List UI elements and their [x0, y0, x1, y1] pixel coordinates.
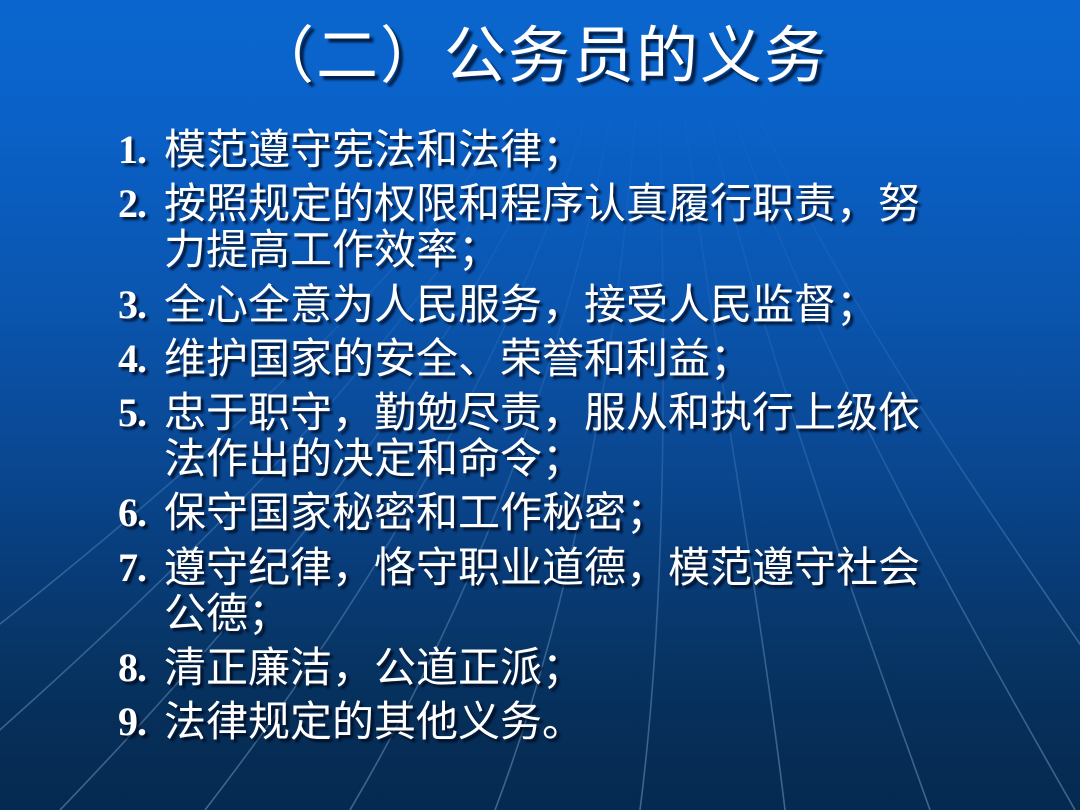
list-item-text: 维护国家的安全、荣誉和利益； — [164, 337, 948, 383]
list-item: 8. 清正廉洁，公道正派； — [118, 646, 948, 692]
list-item-number: 7. — [118, 546, 164, 590]
list-item-number: 4. — [118, 337, 164, 381]
list-item-number: 1. — [118, 128, 164, 172]
list-item-number: 9. — [118, 700, 164, 744]
list-item: 5. 忠于职守，勤勉尽责，服从和执行上级依法作出的决定和命令； — [118, 391, 948, 483]
list-item-text: 忠于职守，勤勉尽责，服从和执行上级依法作出的决定和命令； — [164, 391, 948, 483]
list-item: 2. 按照规定的权限和程序认真履行职责，努力提高工作效率； — [118, 182, 948, 274]
list-item-number: 6. — [118, 491, 164, 535]
slide-canvas: （二）公务员的义务 1. 模范遵守宪法和法律； 2. 按照规定的权限和程序认真履… — [0, 0, 1080, 810]
slide-title: （二）公务员的义务 — [0, 22, 1080, 93]
list-item-number: 2. — [118, 182, 164, 226]
list-item-number: 5. — [118, 391, 164, 435]
list-item: 9. 法律规定的其他义务。 — [118, 700, 948, 746]
list-item: 1. 模范遵守宪法和法律； — [118, 128, 948, 174]
list-item-number: 3. — [118, 283, 164, 327]
obligations-list: 1. 模范遵守宪法和法律； 2. 按照规定的权限和程序认真履行职责，努力提高工作… — [118, 128, 948, 754]
list-item-text: 遵守纪律，恪守职业道德，模范遵守社会公德； — [164, 546, 948, 638]
list-item-text: 清正廉洁，公道正派； — [164, 646, 948, 692]
list-item: 7. 遵守纪律，恪守职业道德，模范遵守社会公德； — [118, 546, 948, 638]
list-item-number: 8. — [118, 646, 164, 690]
list-item: 3. 全心全意为人民服务，接受人民监督； — [118, 283, 948, 329]
list-item-text: 按照规定的权限和程序认真履行职责，努力提高工作效率； — [164, 182, 948, 274]
list-item-text: 保守国家秘密和工作秘密； — [164, 491, 948, 537]
list-item-text: 法律规定的其他义务。 — [164, 700, 948, 746]
list-item: 6. 保守国家秘密和工作秘密； — [118, 491, 948, 537]
list-item-text: 全心全意为人民服务，接受人民监督； — [164, 283, 948, 329]
list-item: 4. 维护国家的安全、荣誉和利益； — [118, 337, 948, 383]
list-item-text: 模范遵守宪法和法律； — [164, 128, 948, 174]
